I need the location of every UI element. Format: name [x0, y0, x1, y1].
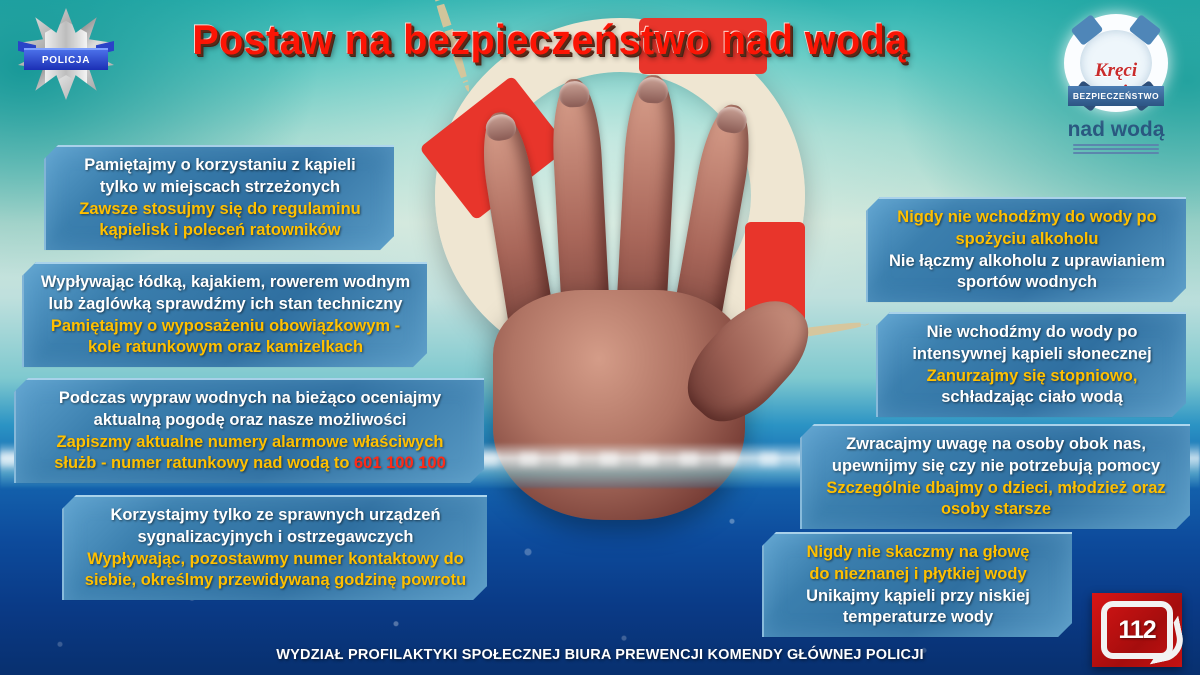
tip-line: Podczas wypraw wodnych na bieżąco ocenia…	[32, 388, 468, 410]
tip-line: Zwracajmy uwagę na osoby obok nas,	[818, 434, 1174, 456]
tip-line: Nigdy nie wchodźmy do wody po	[884, 207, 1170, 229]
tip-line: Zapiszmy aktualne numery alarmowe właści…	[32, 432, 468, 454]
campaign-underline	[1073, 144, 1159, 154]
tip-line: siebie, określmy przewidywaną godzinę po…	[80, 570, 471, 592]
campaign-subtitle: nad wodą	[1046, 118, 1186, 142]
tip-panel-left-3: Podczas wypraw wodnych na bieżąco ocenia…	[14, 378, 484, 483]
tip-line: Szczególnie dbajmy o dzieci, młodzież or…	[818, 478, 1174, 500]
tip-line: Wypływając, pozostawmy numer kontaktowy …	[80, 549, 471, 571]
tip-line: upewnijmy się czy nie potrzebują pomocy	[818, 456, 1174, 478]
tip-line: sygnalizacyjnych i ostrzegawczych	[80, 527, 471, 549]
tip-line: Zanurzajmy się stopniowo,	[894, 366, 1170, 388]
drowning-hand-icon	[475, 75, 805, 505]
policja-badge: POLICJA	[18, 8, 114, 100]
tip-line: temperaturze wody	[780, 607, 1056, 629]
policja-ribbon: POLICJA	[24, 48, 108, 70]
tip-line: tylko w miejscach strzeżonych	[62, 177, 378, 199]
tip-panel-right-4: Nigdy nie skaczmy na głowędo nieznanej i…	[762, 532, 1072, 637]
tip-line: Nie łączmy alkoholu z uprawianiem	[884, 251, 1170, 273]
tip-line: do nieznanej i płytkiej wody	[780, 564, 1056, 586]
tip-line: kąpielisk i poleceń ratowników	[62, 220, 378, 242]
tip-panel-right-2: Nie wchodźmy do wody pointensywnej kąpie…	[876, 312, 1186, 417]
tip-panel-left-1: Pamiętajmy o korzystaniu z kąpielitylko …	[44, 145, 394, 250]
tip-line: Pamiętajmy o wyposażeniu obowiązkowym -	[40, 316, 411, 338]
tip-panel-left-2: Wypływając łódką, kajakiem, rowerem wodn…	[22, 262, 427, 367]
tip-line: intensywnej kąpieli słonecznej	[894, 344, 1170, 366]
tip-line: osoby starsze	[818, 499, 1174, 521]
tip-line: Zawsze stosujmy się do regulaminu	[62, 199, 378, 221]
campaign-band: BEZPIECZEŃSTWO	[1068, 86, 1164, 106]
tip-panel-right-1: Nigdy nie wchodźmy do wody pospożyciu al…	[866, 197, 1186, 302]
tip-line: Nie wchodźmy do wody po	[894, 322, 1170, 344]
campaign-band-text: BEZPIECZEŃSTWO	[1073, 91, 1159, 101]
policja-label: POLICJA	[42, 55, 90, 66]
tip-line: lub żaglówką sprawdźmy ich stan technicz…	[40, 294, 411, 316]
footer-credit: WYDZIAŁ PROFILAKTYKI SPOŁECZNEJ BIURA PR…	[0, 647, 1200, 663]
emergency-phone-number: 601 100 100	[354, 454, 446, 472]
tip-panel-left-4: Korzystajmy tylko ze sprawnych urządzeńs…	[62, 495, 487, 600]
tip-line: Wypływając łódką, kajakiem, rowerem wodn…	[40, 272, 411, 294]
page-title: Postaw na bezpieczeństwo nad wodą	[136, 16, 963, 64]
tip-line: aktualną pogodę oraz nasze możliwości	[32, 410, 468, 432]
safety-poster: POLICJA Postaw na bezpieczeństwo nad wod…	[0, 0, 1200, 675]
tip-line: służb - numer ratunkowy nad wodą to 601 …	[32, 453, 468, 475]
tip-line: sportów wodnych	[884, 272, 1170, 294]
emergency-number: 112	[1118, 616, 1155, 645]
tip-line: schładzając ciało wodą	[894, 387, 1170, 409]
tip-line: kole ratunkowym oraz kamizelkach	[40, 337, 411, 359]
tip-panel-right-3: Zwracajmy uwagę na osoby obok nas,upewni…	[800, 424, 1190, 529]
tip-line: Unikajmy kąpieli przy niskiej	[780, 586, 1056, 608]
tip-line: Korzystajmy tylko ze sprawnych urządzeń	[80, 505, 471, 527]
campaign-logo: Kręci mnie BEZPIECZEŃSTWO nad wodą	[1046, 14, 1186, 144]
tip-line: spożyciu alkoholu	[884, 229, 1170, 251]
tip-line: Pamiętajmy o korzystaniu z kąpieli	[62, 155, 378, 177]
campaign-lifebuoy-icon: Kręci mnie BEZPIECZEŃSTWO	[1064, 14, 1168, 112]
tip-line: Nigdy nie skaczmy na głowę	[780, 542, 1056, 564]
